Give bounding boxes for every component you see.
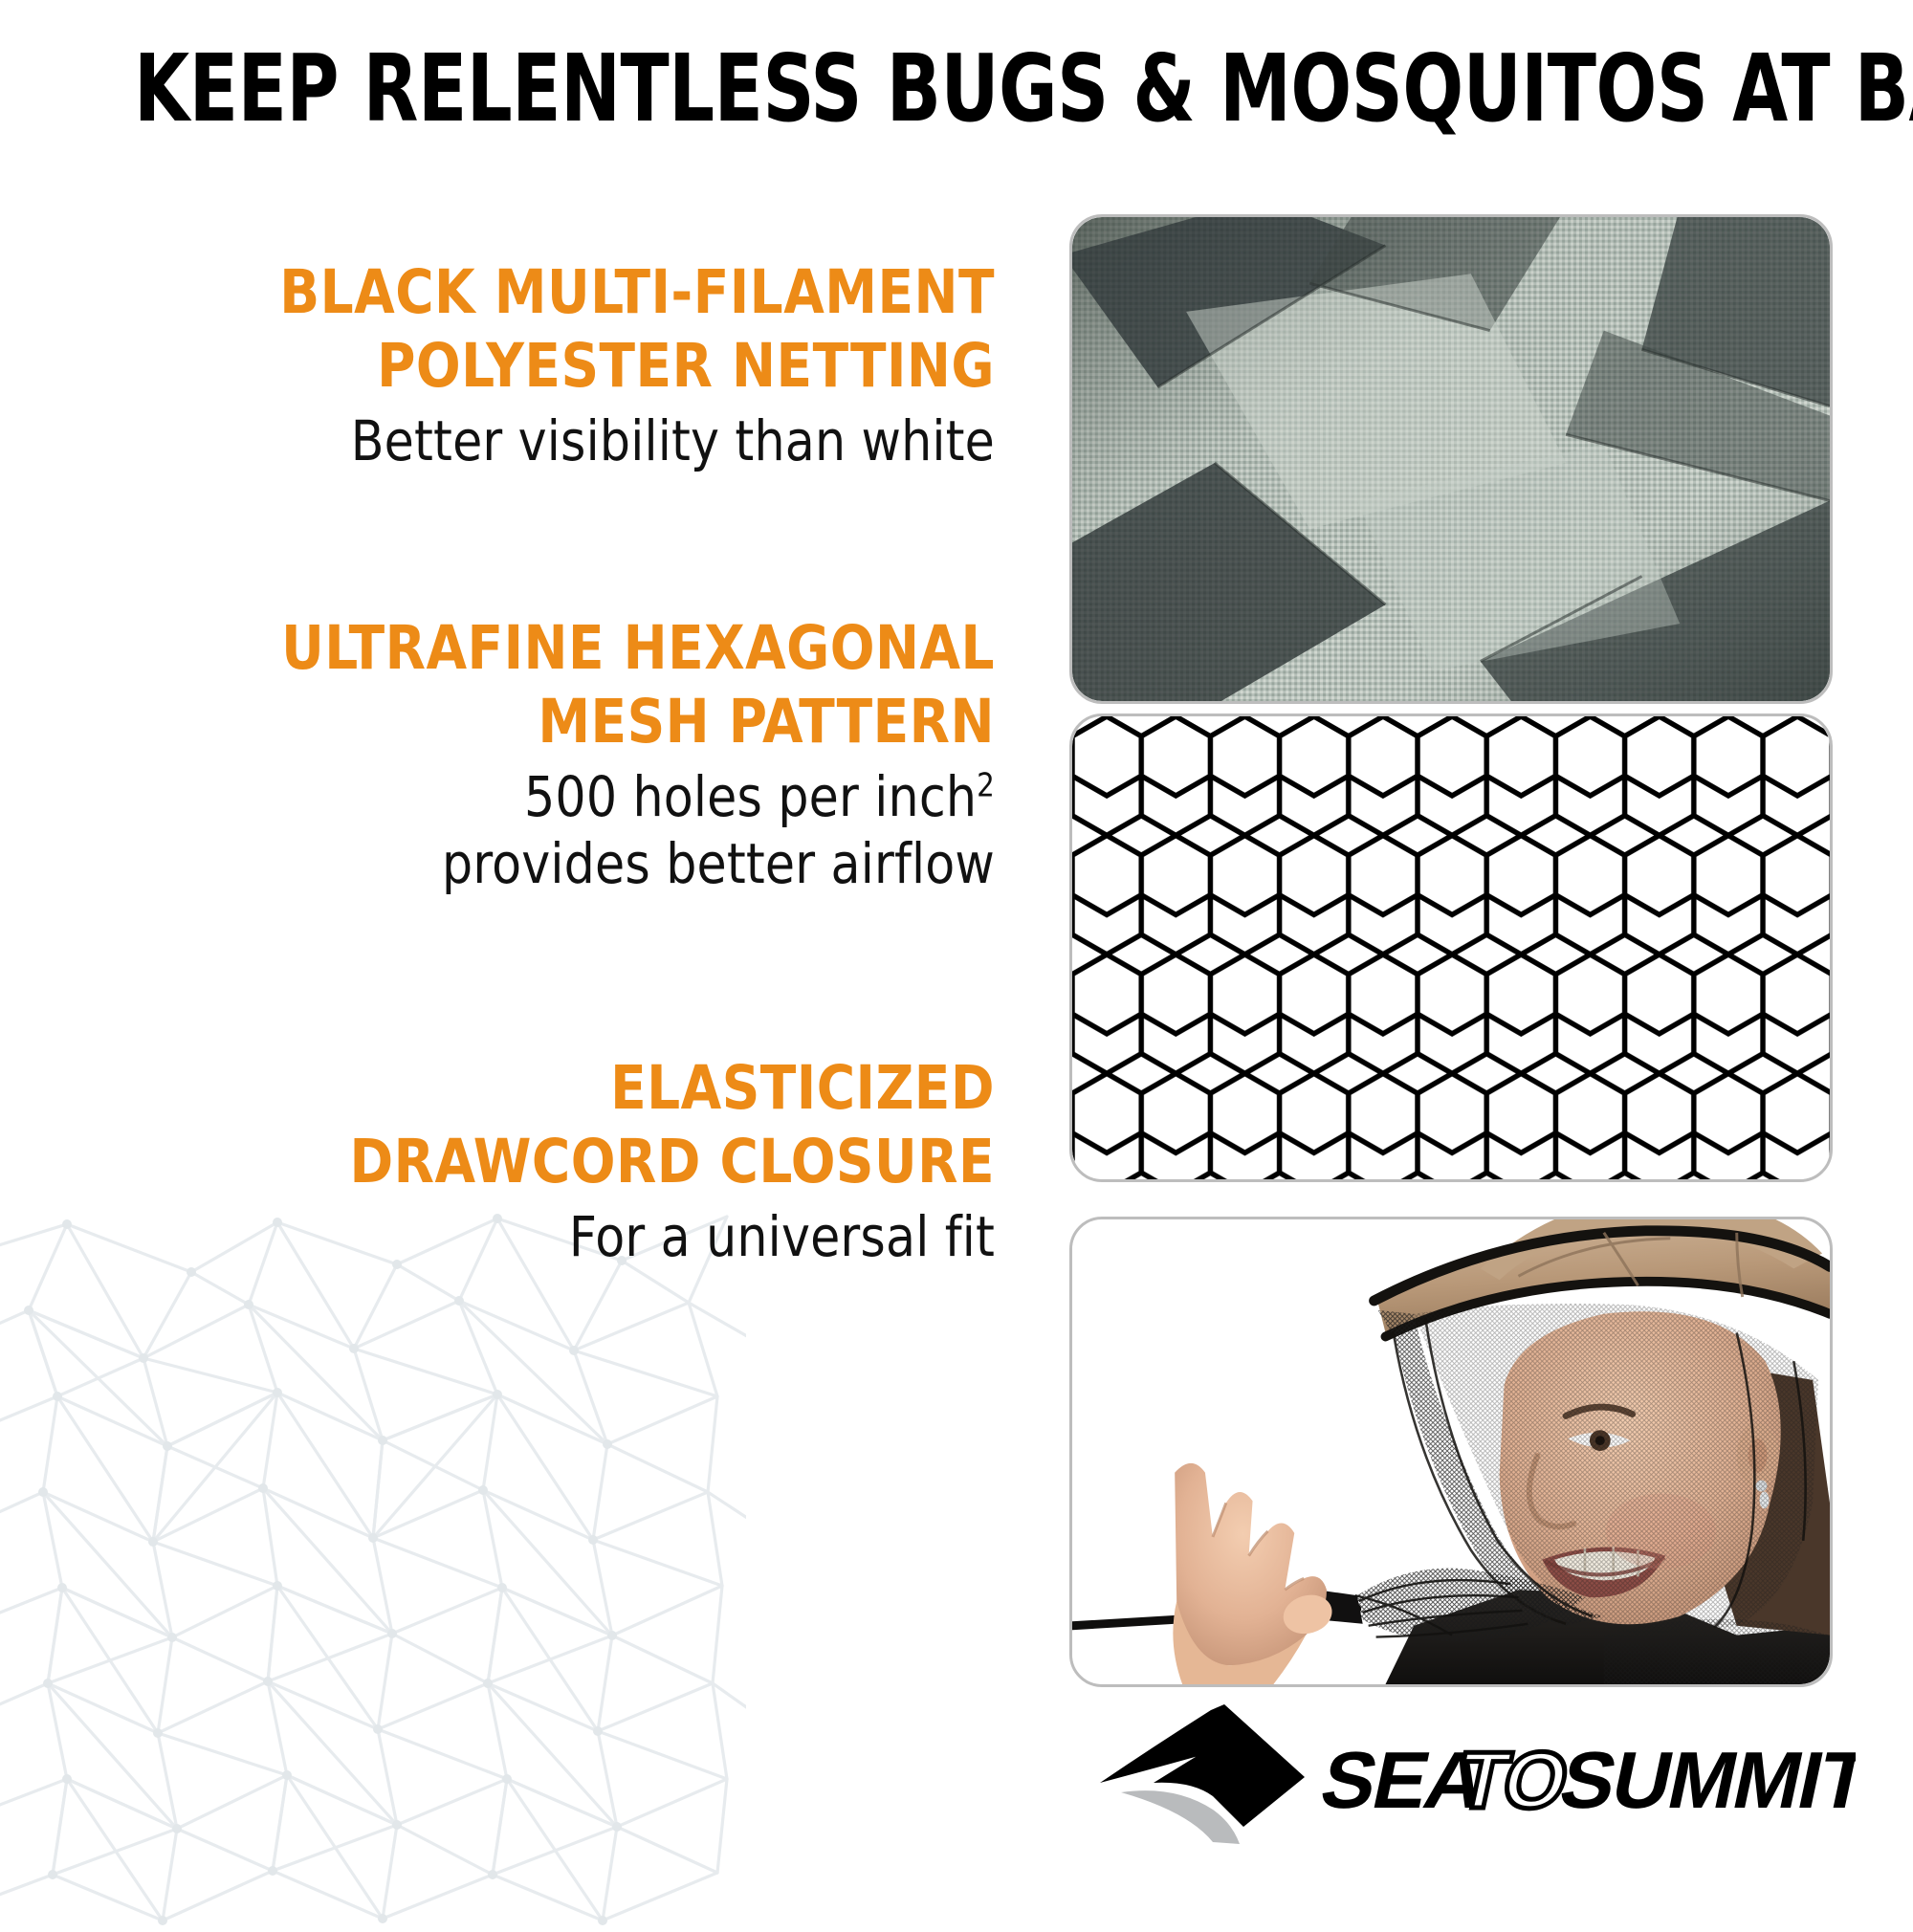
image-card-drawcord — [1069, 1217, 1833, 1687]
feature-text-column: BLACK MULTI-FILAMENT POLYESTER NETTING B… — [0, 0, 997, 1913]
feature-block-netting: BLACK MULTI-FILAMENT POLYESTER NETTING B… — [40, 256, 997, 474]
feature-block-mesh: ULTRAFINE HEXAGONAL MESH PATTERN 500 hol… — [40, 612, 997, 898]
feature-subtitle-mesh: 500 holes per inch2 provides better airf… — [69, 763, 995, 899]
superscript-two: 2 — [977, 766, 995, 803]
feature-subtitle-drawcord: For a universal fit — [69, 1203, 995, 1271]
image-card-hex-mesh — [1069, 714, 1833, 1182]
drawcord-closure-photo — [1072, 1219, 1830, 1684]
sea-to-summit-logo: SEA TO SUMMIT — [1100, 1704, 1856, 1848]
feature-heading-mesh: ULTRAFINE HEXAGONAL MESH PATTERN — [69, 612, 995, 759]
hexagonal-mesh-diagram — [1072, 716, 1830, 1179]
feature-heading-netting: BLACK MULTI-FILAMENT POLYESTER NETTING — [69, 256, 995, 404]
image-card-netting — [1069, 214, 1833, 704]
feature-block-drawcord: ELASTICIZED DRAWCORD CLOSURE For a unive… — [40, 1052, 997, 1270]
holes-per-inch-line: 500 holes per inch2 — [69, 763, 995, 831]
black-polyester-netting-photo — [1072, 217, 1830, 701]
page-title: KEEP RELENTLESS BUGS & MOSQUITOS AT BAY — [134, 42, 1779, 135]
logo-word-summit: SUMMIT — [1552, 1735, 1856, 1825]
feature-subtitle-netting: Better visibility than white — [69, 407, 995, 475]
feature-heading-drawcord: ELASTICIZED DRAWCORD CLOSURE — [69, 1052, 995, 1199]
